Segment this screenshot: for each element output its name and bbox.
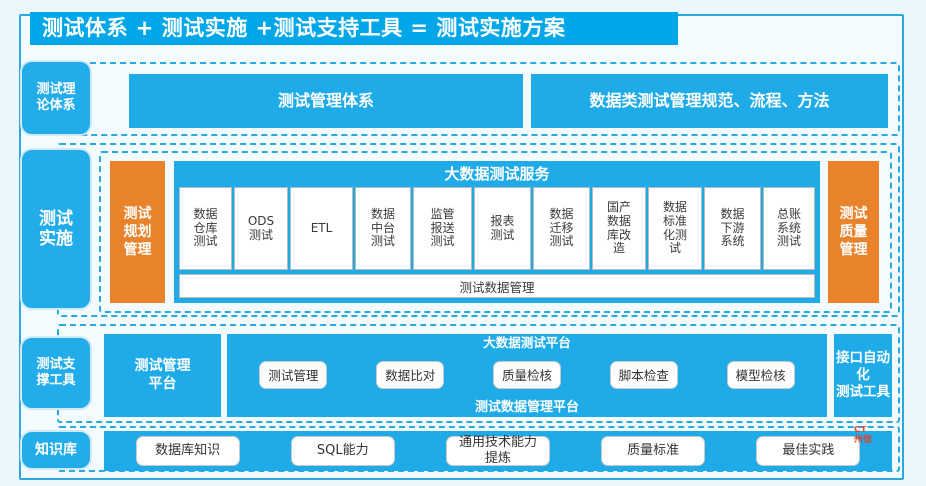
pill-database-knowledge[interactable]: 数据库知识 <box>136 436 240 466</box>
cell-data-migration-test[interactable]: 数据 迁移 测试 <box>533 187 590 270</box>
box-test-management-system[interactable]: 测试管理体系 <box>129 74 523 128</box>
knowledge-base-pill-group: 数据库知识 SQL能力 通用技术能力 提炼 质量标准 最佳实践 <box>104 431 892 471</box>
cell-etl[interactable]: ETL <box>290 187 353 270</box>
box-data-test-management-spec[interactable]: 数据类测试管理规范、流程、方法 <box>531 74 888 128</box>
panel-bigdata-test-service: 大数据测试服务 数据 仓库 测试 ODS 测试 ETL 数据 中台 测试 监管 … <box>174 161 820 303</box>
pill-data-comparison[interactable]: 数据比对 <box>376 361 444 389</box>
pill-model-check[interactable]: 模型检核 <box>727 361 795 389</box>
row-support-tools: 测试管理 平台 大数据测试平台 测试管理 数据比对 质量检核 脚本检查 模型检核… <box>57 324 900 423</box>
corner-watermark-logo: CT 州信 <box>854 426 924 478</box>
watermark-subtext <box>854 460 924 467</box>
panel-bigdata-test-service-title: 大数据测试服务 <box>174 161 820 187</box>
box-api-automation-test-tool[interactable]: 接口自动化 测试工具 <box>834 334 892 417</box>
cell-regulatory-report-test[interactable]: 监管 报送 测试 <box>413 187 472 270</box>
service-cell-grid: 数据 仓库 测试 ODS 测试 ETL 数据 中台 测试 监管 报送 测试 报表… <box>179 187 815 270</box>
watermark-line2: 州信 <box>854 435 872 445</box>
pill-sql-capability[interactable]: SQL能力 <box>291 436 395 466</box>
cell-report-test[interactable]: 报表 测试 <box>474 187 531 270</box>
cell-data-downstream-system[interactable]: 数据 下游 系统 <box>704 187 761 270</box>
panel-bigdata-test-platform: 大数据测试平台 测试管理 数据比对 质量检核 脚本检查 模型检核 测试数据管理平… <box>227 334 827 417</box>
pill-quality-standard[interactable]: 质量标准 <box>601 436 705 466</box>
slide-title-bar: 测试体系 + 测试实施 +测试支持工具 = 测试实施方案 <box>30 12 678 45</box>
support-tool-pill-group: 测试管理 数据比对 质量检核 脚本检查 模型检核 <box>235 353 819 397</box>
panel-bigdata-test-platform-title: 大数据测试平台 <box>227 334 827 351</box>
watermark-line1: CT <box>854 426 867 435</box>
cell-data-standardization-test[interactable]: 数据 标准 化测 试 <box>648 187 702 270</box>
pill-test-management[interactable]: 测试管理 <box>259 361 327 389</box>
panel-test-data-management-platform-label: 测试数据管理平台 <box>227 396 827 415</box>
pill-general-tech-capability[interactable]: 通用技术能力 提炼 <box>446 436 550 466</box>
pill-quality-check[interactable]: 质量检核 <box>493 361 561 389</box>
sidebar-item-support-tools[interactable]: 测试支 撑工具 <box>20 336 92 410</box>
box-test-planning-management[interactable]: 测试 规划 管理 <box>110 161 165 303</box>
pill-best-practice[interactable]: 最佳实践 <box>756 436 860 466</box>
sidebar-item-knowledge-base[interactable]: 知识库 <box>20 430 92 470</box>
box-test-data-management[interactable]: 测试数据管理 <box>179 274 815 298</box>
sidebar-item-test-execution[interactable]: 测试 实施 <box>20 148 92 310</box>
pill-script-check[interactable]: 脚本检查 <box>610 361 678 389</box>
cell-general-ledger-system-test[interactable]: 总账 系统 测试 <box>763 187 815 270</box>
row-test-execution: 测试 规划 管理 大数据测试服务 数据 仓库 测试 ODS 测试 ETL 数据 … <box>57 143 900 317</box>
row-theory-system: 测试管理体系 数据类测试管理规范、流程、方法 <box>57 62 900 136</box>
box-test-management-platform[interactable]: 测试管理 平台 <box>104 334 221 417</box>
slide-canvas: 测试体系 + 测试实施 +测试支持工具 = 测试实施方案 测试理 论体系 测试管… <box>0 0 926 486</box>
cell-data-warehouse-test[interactable]: 数据 仓库 测试 <box>179 187 232 270</box>
cell-ods-test[interactable]: ODS 测试 <box>234 187 288 270</box>
row-knowledge-base: 数据库知识 SQL能力 通用技术能力 提炼 质量标准 最佳实践 <box>57 426 900 472</box>
cell-domestic-db-refactor[interactable]: 国产 数据 库改 造 <box>592 187 646 270</box>
slide-title: 测试体系 + 测试实施 +测试支持工具 = 测试实施方案 <box>42 18 565 39</box>
sidebar-item-theory-system[interactable]: 测试理 论体系 <box>20 60 92 136</box>
cell-data-midplatform-test[interactable]: 数据 中台 测试 <box>355 187 411 270</box>
box-test-quality-management[interactable]: 测试 质量 管理 <box>828 161 879 303</box>
